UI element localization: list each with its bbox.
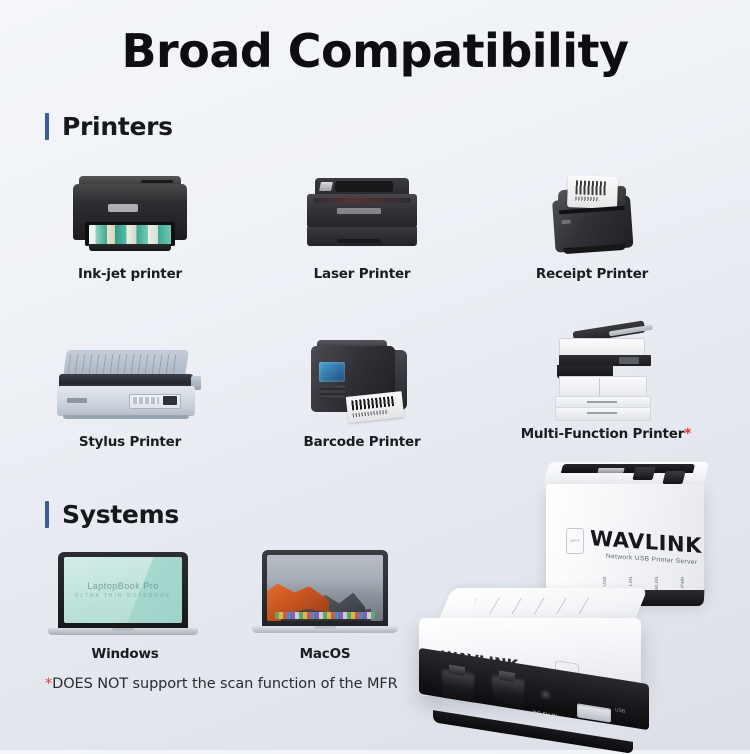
tile-inkjet-printer[interactable]: Ink-jet printer <box>40 160 220 282</box>
tile-label: Windows <box>35 646 215 662</box>
windows-laptop-icon: LaptopBook Pro ULTRA THIN NOTEBOOK <box>40 540 210 636</box>
infographic-page: Broad Compatibility Printers Ink-jet pri… <box>0 0 750 750</box>
ethernet-port-icon <box>662 471 685 484</box>
tile-label: Stylus Printer <box>40 434 220 450</box>
tile-barcode-printer[interactable]: Barcode Printer <box>272 328 452 450</box>
section-header-printers: Printers <box>45 112 173 141</box>
footnote: *DOES NOT support the scan function of t… <box>45 676 398 692</box>
tile-label: Barcode Printer <box>272 434 452 450</box>
inkjet-printer-icon <box>45 160 215 256</box>
section-header-systems: Systems <box>45 500 179 529</box>
product-image-print-server-front: WAVLINK BRIDGE LAN DC 5V IN USB <box>415 588 660 728</box>
tile-label: Laser Printer <box>272 266 452 282</box>
laptop-screen-subtext: ULTRA THIN NOTEBOOK <box>64 593 182 599</box>
led-label: LAN <box>628 575 646 586</box>
wps-badge: WPS <box>566 528 584 554</box>
tile-label: Multi-Function Printer* <box>496 426 716 442</box>
led-label: PWR <box>680 575 698 588</box>
tile-label-text: Multi-Function Printer <box>521 426 684 442</box>
laser-printer-icon <box>277 160 447 256</box>
tile-stylus-printer[interactable]: Stylus Printer <box>40 328 220 450</box>
receipt-printer-icon <box>507 160 677 256</box>
macbook-icon <box>240 540 410 636</box>
barcode-printer-icon <box>277 328 447 424</box>
tile-label: MacOS <box>235 646 415 662</box>
tile-receipt-printer[interactable]: Receipt Printer <box>502 160 682 282</box>
stylus-printer-icon <box>45 328 215 424</box>
port-label: LAN <box>501 707 512 715</box>
accent-bar-icon <box>45 501 49 528</box>
usb-port-icon <box>597 468 624 473</box>
tile-windows[interactable]: LaptopBook Pro ULTRA THIN NOTEBOOK Windo… <box>35 540 215 662</box>
dc-power-port-icon <box>539 689 552 700</box>
laptop-screen-text: LaptopBook Pro <box>64 581 182 591</box>
tile-label: Ink-jet printer <box>40 266 220 282</box>
accent-bar-icon <box>45 113 49 140</box>
footnote-text: DOES NOT support the scan function of th… <box>52 676 397 692</box>
multifunction-printer-icon <box>521 320 691 416</box>
wps-badge-label: WPS <box>567 538 583 543</box>
tile-macos[interactable]: MacOS <box>235 540 415 662</box>
asterisk-marker: * <box>684 426 691 442</box>
port-label: BRIDGE <box>443 700 465 709</box>
led-label: USB <box>602 575 620 586</box>
section-title-printers: Printers <box>62 112 173 141</box>
tile-label: Receipt Printer <box>502 266 682 282</box>
tile-laser-printer[interactable]: Laser Printer <box>272 160 452 282</box>
page-title: Broad Compatibility <box>0 24 750 78</box>
lan-port-icon <box>491 673 525 708</box>
bridge-port-icon <box>441 667 475 702</box>
section-title-systems: Systems <box>62 500 179 529</box>
tile-multifunction-printer[interactable]: Multi-Function Printer* <box>496 320 716 442</box>
ethernet-port-icon <box>632 467 655 480</box>
